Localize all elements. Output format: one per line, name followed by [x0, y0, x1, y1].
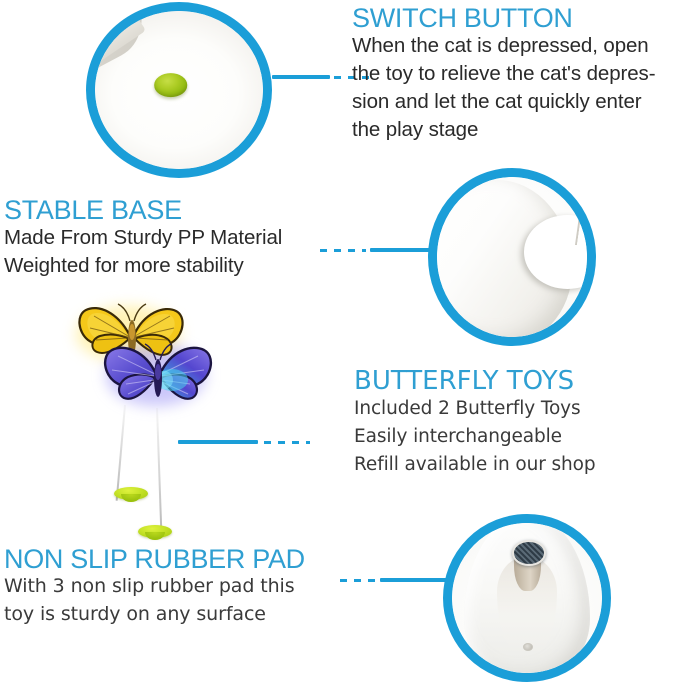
feature-title-butterfly-toys: BUTTERFLY TOYS [354, 368, 674, 395]
connector-line-stable-base [320, 248, 438, 252]
photo-circle-switch-button [86, 2, 272, 178]
body-line: Weighted for more stability [4, 252, 324, 280]
body-line: the toy to relieve the cat's depres- [352, 60, 674, 88]
green-switch-button-icon [154, 73, 188, 97]
body-line: Included 2 Butterfly Toys [354, 395, 674, 423]
photo-circle-non-slip-rubber-pad [443, 514, 611, 682]
feature-title-switch-button: SWITCH BUTTON [352, 4, 674, 32]
feature-body-switch-button: When the cat is depressed, open the toy … [352, 32, 674, 144]
butterfly-toys-photo [60, 300, 220, 540]
body-line: Made From Sturdy PP Material [4, 224, 324, 252]
body-line: sion and let the cat quickly enter [352, 88, 674, 116]
body-line: toy is sturdy on any surface [4, 601, 334, 629]
string-cap-green-lower [138, 525, 172, 538]
body-line: Easily interchangeable [354, 423, 674, 451]
feature-block-switch-button: SWITCH BUTTON When the cat is depressed,… [352, 4, 674, 144]
feature-body-non-slip-rubber-pad: With 3 non slip rubber pad this toy is s… [4, 573, 334, 628]
body-line: the play stage [352, 116, 674, 144]
connector-line-butterfly-toys [178, 440, 310, 444]
body-line: When the cat is depressed, open [352, 32, 674, 60]
feature-block-stable-base: STABLE BASE Made From Sturdy PP Material… [4, 196, 324, 280]
butterfly-blue-icon [98, 340, 218, 420]
body-line: With 3 non slip rubber pad this [4, 573, 334, 601]
connector-line-non-slip-rubber-pad [340, 578, 452, 582]
feature-body-butterfly-toys: Included 2 Butterfly Toys Easily interch… [354, 395, 674, 478]
feature-title-non-slip-rubber-pad: NON SLIP RUBBER PAD [4, 545, 334, 573]
base-screw-icon [523, 643, 533, 651]
rubber-pad-photo [452, 523, 602, 673]
infographic-canvas: SWITCH BUTTON When the cat is depressed,… [0, 0, 679, 685]
feature-body-stable-base: Made From Sturdy PP Material Weighted fo… [4, 224, 324, 280]
rubber-pad-icon [512, 540, 546, 567]
feature-block-butterfly-toys: BUTTERFLY TOYS Included 2 Butterfly Toys… [354, 368, 674, 479]
string-cap-green-upper [114, 487, 148, 500]
switch-button-photo [95, 11, 263, 169]
feature-title-stable-base: STABLE BASE [4, 196, 324, 224]
butterfly-string-right [156, 408, 162, 536]
stable-base-photo [437, 177, 587, 337]
feature-block-non-slip-rubber-pad: NON SLIP RUBBER PAD With 3 non slip rubb… [4, 545, 334, 628]
body-line: Refill available in our shop [354, 451, 674, 479]
photo-circle-stable-base [428, 168, 596, 346]
